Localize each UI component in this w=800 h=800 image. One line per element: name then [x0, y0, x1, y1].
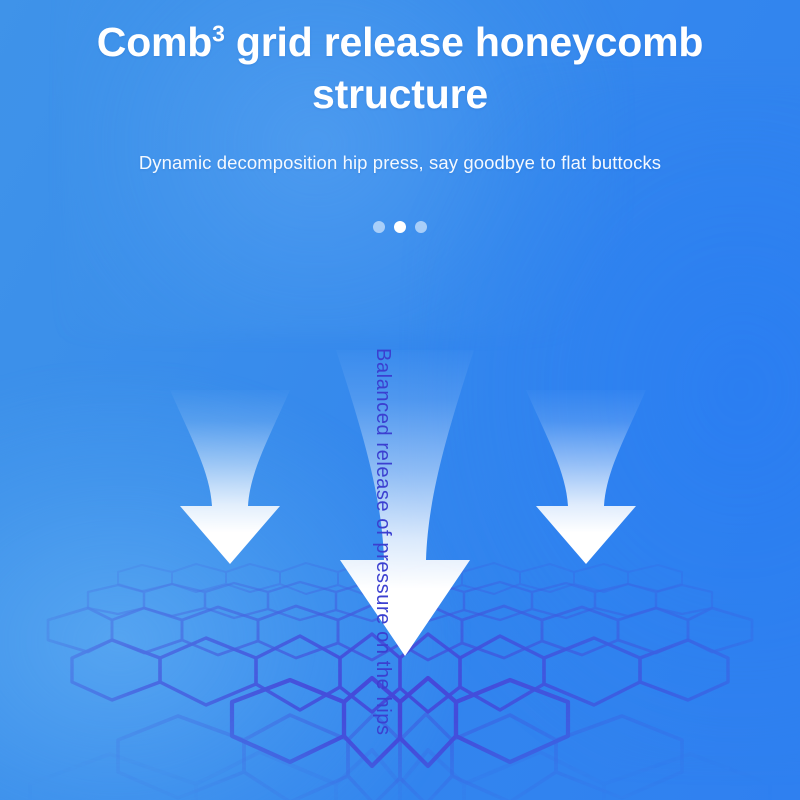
carousel-dots [0, 221, 800, 233]
arrow-center [322, 348, 488, 664]
product-feature-banner: Balanced release of pressure on the hips… [0, 0, 800, 800]
carousel-dot-3[interactable] [415, 221, 427, 233]
carousel-dot-2[interactable] [394, 221, 406, 233]
carousel-dot-1[interactable] [373, 221, 385, 233]
page-subtitle: Dynamic decomposition hip press, say goo… [0, 152, 800, 174]
page-title-superscript: 3 [212, 20, 225, 46]
page-title-rest: grid release honeycomb structure [225, 19, 703, 117]
page-title-lead: Comb [97, 19, 212, 65]
arrow-left [152, 388, 308, 570]
page-title: Comb3 grid release honeycomb structure [0, 16, 800, 121]
vertical-caption: Balanced release of pressure on the hips [371, 348, 394, 736]
arrow-right [508, 388, 664, 570]
